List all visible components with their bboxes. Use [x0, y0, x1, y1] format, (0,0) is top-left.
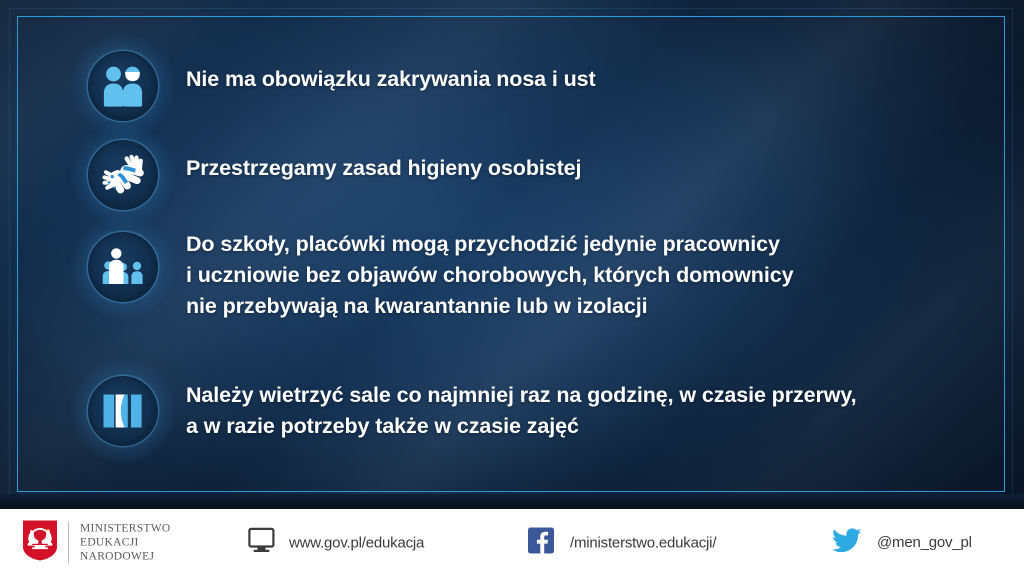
- facebook-link[interactable]: /ministerstwo.edukacji/: [528, 527, 716, 558]
- guideline-row-attendance: Do szkoły, placówki mogą przychodzić jed…: [84, 228, 793, 322]
- guidelines-list: Nie ma obowiązku zakrywania nosa i ust: [0, 0, 1024, 509]
- guideline-text-attendance: Do szkoły, placówki mogą przychodzić jed…: [186, 228, 793, 322]
- guideline-row-masks: Nie ma obowiązku zakrywania nosa i ust: [84, 47, 596, 125]
- ministry-name-line3: NARODOWEJ: [80, 550, 170, 564]
- guideline-line: Należy wietrzyć sale co najmniej raz na …: [186, 380, 857, 411]
- twitter-label: @men_gov_pl: [877, 534, 972, 551]
- icon-wrap-ventilation: [84, 372, 162, 450]
- website-link[interactable]: www.gov.pl/edukacja: [248, 527, 424, 558]
- facebook-label: /ministerstwo.edukacji/: [570, 534, 716, 551]
- guideline-row-ventilation: Należy wietrzyć sale co najmniej raz na …: [84, 372, 857, 450]
- twitter-link[interactable]: @men_gov_pl: [832, 528, 972, 558]
- website-label: www.gov.pl/edukacja: [289, 534, 424, 551]
- footer-separator: [0, 494, 1024, 510]
- monitor-icon: [248, 527, 275, 558]
- guideline-line: a w razie potrzeby także w czasie zajęć: [186, 411, 857, 442]
- guideline-line: Do szkoły, placówki mogą przychodzić jed…: [186, 229, 793, 260]
- guideline-line: Przestrzegamy zasad higieny osobistej: [186, 153, 581, 184]
- guideline-row-hygiene: Przestrzegamy zasad higieny osobistej: [84, 136, 581, 214]
- guideline-line: i uczniowie bez objawów chorobowych, któ…: [186, 260, 793, 291]
- poster-root: Nie ma obowiązku zakrywania nosa i ust: [0, 0, 1024, 576]
- guideline-text-masks: Nie ma obowiązku zakrywania nosa i ust: [186, 47, 596, 95]
- guideline-line: Nie ma obowiązku zakrywania nosa i ust: [186, 64, 596, 95]
- guideline-line: nie przebywają na kwarantannie lub w izo…: [186, 291, 793, 322]
- guideline-text-hygiene: Przestrzegamy zasad higieny osobistej: [186, 136, 581, 184]
- ministry-name-line2: EDUKACJI: [80, 536, 170, 550]
- ministry-name: MINISTERSTWO EDUKACJI NARODOWEJ: [68, 522, 170, 564]
- open-window-ventilation-icon: [88, 376, 158, 446]
- icon-wrap-attendance: [84, 228, 162, 306]
- icon-wrap-masks: [84, 47, 162, 125]
- polish-coat-of-arms-icon: [22, 519, 58, 566]
- handwashing-icon: [88, 140, 158, 210]
- icon-wrap-hygiene: [84, 136, 162, 214]
- footer-bar: MINISTERSTWO EDUKACJI NARODOWEJ www.gov.…: [0, 509, 1024, 576]
- ministry-logo: MINISTERSTWO EDUKACJI NARODOWEJ: [22, 519, 170, 566]
- facebook-icon: [528, 527, 554, 558]
- two-people-distance-mask-icon: [88, 51, 158, 121]
- guideline-text-ventilation: Należy wietrzyć sale co najmniej raz na …: [186, 372, 857, 442]
- twitter-icon: [832, 528, 862, 558]
- teacher-with-students-icon: [88, 232, 158, 302]
- ministry-name-line1: MINISTERSTWO: [80, 522, 170, 536]
